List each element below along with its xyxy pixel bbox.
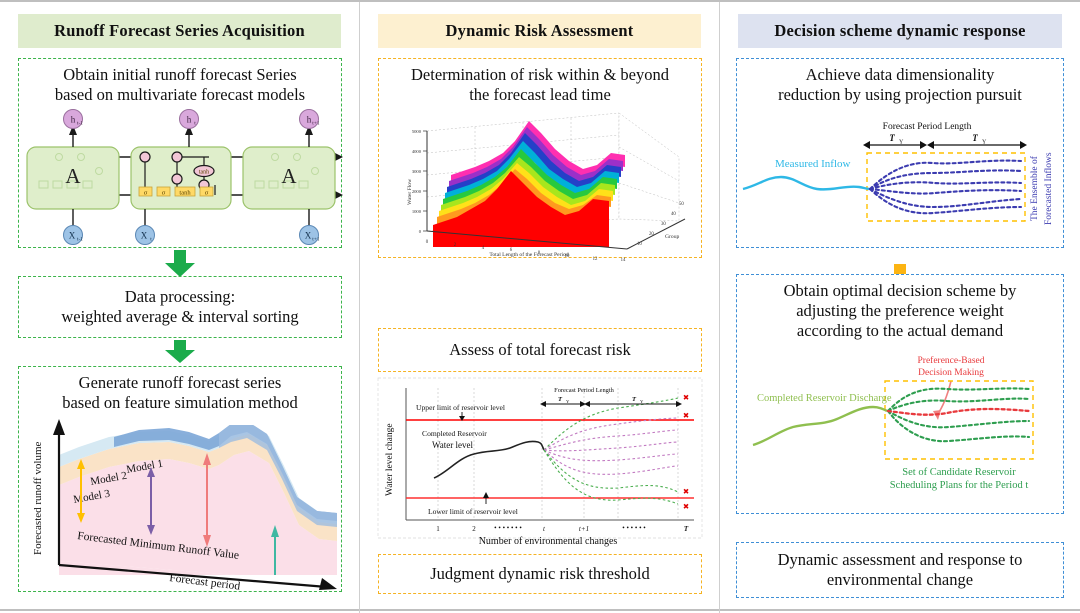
feature-xlabel: Forecast period <box>169 572 241 593</box>
column-decision-response: Decision scheme dynamic response Achieve… <box>720 2 1080 613</box>
box-determination-risk[interactable]: Determination of risk within & beyond th… <box>378 58 702 258</box>
waterfall-zlabel: Group <box>665 234 679 240</box>
risk-xtick-1: 2 <box>472 525 476 533</box>
lower-limit-label: Lower limit of reservoir level <box>428 507 518 516</box>
risk-dots-right: • • • • • • <box>622 524 646 532</box>
box-generate-series[interactable]: Generate runoff forecast series based on… <box>18 366 342 592</box>
figure-projection-pursuit: Forecast Period Length T Y T Y Mea <box>737 115 1063 243</box>
projection-period-label-0: T <box>889 133 895 143</box>
lstm-input-label-2: X <box>305 231 312 241</box>
feature-ylabel: Forecasted runoff volume <box>32 441 44 555</box>
measured-inflow-curve <box>743 177 869 189</box>
arrow-down-green-2 <box>163 340 197 364</box>
lstm-hidden-sub-2: t+1 <box>312 121 320 127</box>
projection-period-label-1: T <box>972 133 978 143</box>
water-level-label: Water level <box>432 440 474 450</box>
completed-reservoir-label: Completed Reservoir <box>422 429 487 438</box>
waterfall-ytick-3: 3000 <box>412 169 422 174</box>
box-data-processing[interactable]: Data processing: weighted average & inte… <box>18 276 342 338</box>
lstm-input-label-0: X <box>69 231 76 241</box>
ensemble-label-line1: The Ensemble of <box>1029 155 1040 221</box>
box-assess-total-risk-text: Assess of total forecast risk <box>449 340 630 360</box>
projection-period-title: Forecast Period Length <box>883 122 972 132</box>
figure-lstm-chain: A A <box>19 109 341 245</box>
waterfall-ytick-5: 5000 <box>412 129 422 134</box>
lstm-inner-op: tanh <box>199 170 209 176</box>
box-dynamic-assessment-text: Dynamic assessment and response to envir… <box>778 550 1023 590</box>
preference-label-line1: Preference-Based <box>918 355 985 366</box>
waterfall-ztick-3: 40 <box>671 212 676 217</box>
waterfall-xlabel: Total Length of the Forecast Period <box>489 251 569 258</box>
candidate-label-line1: Set of Candidate Reservoir <box>902 467 1016 478</box>
box-obtain-initial-text: Obtain initial runoff forecast Series ba… <box>19 59 341 105</box>
box-judgment-threshold[interactable]: Judgment dynamic risk threshold <box>378 554 702 594</box>
box-data-processing-text: Data processing: weighted average & inte… <box>61 287 298 327</box>
risk-xlabel: Number of environmental changes <box>479 536 618 547</box>
box-assess-total-risk[interactable]: Assess of total forecast risk <box>378 328 702 372</box>
lstm-hidden-label-1: h <box>187 115 192 125</box>
lstm-input-label-1: X <box>141 231 148 241</box>
lstm-gate-1: σ <box>162 190 166 197</box>
flowchart-root: Runoff Forecast Series Acquisition Obtai… <box>0 0 1080 611</box>
upper-limit-label: Upper limit of reservoir level <box>416 403 505 412</box>
arrow-down-green-1 <box>163 250 197 278</box>
waterfall-ztick-0: 10 <box>637 242 642 247</box>
box-obtain-optimal[interactable]: Obtain optimal decision scheme by adjust… <box>736 274 1064 514</box>
box-obtain-initial[interactable]: Obtain initial runoff forecast Series ba… <box>18 58 342 248</box>
lstm-gate-2: tanh <box>179 190 191 197</box>
waterfall-xtick-0: 0 <box>426 240 429 245</box>
box-achieve-dimensionality[interactable]: Achieve data dimensionality reduction by… <box>736 58 1064 248</box>
waterfall-ytick-0: 0 <box>419 229 422 234</box>
figure-risk-chart: ✖ ✖ ✖ ✖ Upper limit of reservoir level C… <box>378 378 702 550</box>
waterfall-ztick-2: 30 <box>661 222 666 227</box>
figure-waterfall-3d: 0 1000 2000 3000 4000 5000 0 2 4 6 8 10 <box>379 109 701 257</box>
measured-inflow-label: Measured Inflow <box>775 158 851 170</box>
lstm-hidden-label-0: h <box>71 115 76 125</box>
waterfall-xtick-7: 14 <box>621 258 626 263</box>
box-judgment-threshold-text: Judgment dynamic risk threshold <box>430 564 650 584</box>
projection-period-sub-0: Y <box>899 140 904 146</box>
waterfall-xtick-6: 12 <box>593 257 598 262</box>
waterfall-ylabel: Water Flow <box>407 178 413 205</box>
box-generate-series-text: Generate runoff forecast series based on… <box>19 367 341 413</box>
lstm-hidden-sub-0: t-1 <box>77 121 83 127</box>
column-runoff-forecast: Runoff Forecast Series Acquisition Obtai… <box>0 2 360 613</box>
column-header-runoff-forecast: Runoff Forecast Series Acquisition <box>18 14 341 48</box>
risk-xtick-3: t+1 <box>579 525 589 533</box>
lstm-gate-0: σ <box>144 190 148 197</box>
waterfall-ytick-2: 2000 <box>412 189 422 194</box>
waterfall-ztick-1: 20 <box>649 232 654 237</box>
risk-marker-2: ✖ <box>683 487 690 496</box>
figure-feature-simulation: Forecasted runoff volume Forecast period… <box>19 415 341 591</box>
lstm-gate-3: σ <box>205 190 209 197</box>
risk-dots-left: • • • • • • • <box>494 524 522 532</box>
waterfall-ztick-4: 50 <box>679 202 684 207</box>
risk-ylabel: Water level change <box>385 423 395 496</box>
column-dynamic-risk: Dynamic Risk Assessment Determination of… <box>360 2 720 613</box>
box-dynamic-assessment[interactable]: Dynamic assessment and response to envir… <box>736 542 1064 598</box>
risk-marker-1: ✖ <box>683 411 690 420</box>
risk-xtick-0: 1 <box>436 525 440 533</box>
box-achieve-dimensionality-text: Achieve data dimensionality reduction by… <box>737 59 1063 105</box>
discharge-label: Completed Reservoir Discharge <box>757 393 892 404</box>
lstm-cell-label-right: A <box>281 164 297 188</box>
column-header-decision-response: Decision scheme dynamic response <box>738 14 1062 48</box>
waterfall-ytick-4: 4000 <box>412 149 422 154</box>
box-determination-risk-text: Determination of risk within & beyond th… <box>379 59 701 105</box>
risk-marker-0: ✖ <box>683 393 690 402</box>
completed-discharge-curve <box>753 407 887 445</box>
risk-marker-3: ✖ <box>683 502 690 511</box>
column-header-dynamic-risk: Dynamic Risk Assessment <box>378 14 701 48</box>
forecast-period-title: Forecast Period Length <box>554 387 614 394</box>
lstm-cell-label-left: A <box>65 164 81 188</box>
projection-period-sub-1: Y <box>982 140 987 146</box>
preferred-plan-curve <box>888 409 1029 415</box>
risk-xtick-4: T <box>684 525 689 533</box>
waterfall-ytick-1: 1000 <box>412 209 422 214</box>
figure-decision-scheme: Preference-Based Decision Making Complet… <box>737 349 1063 509</box>
box-obtain-optimal-text: Obtain optimal decision scheme by adjust… <box>737 275 1063 341</box>
lstm-input-sub-0: t-1 <box>77 237 83 243</box>
preference-label-line2: Decision Making <box>918 368 984 378</box>
lstm-hidden-label-2: h <box>307 115 312 125</box>
candidate-label-line2: Scheduling Plans for the Period t <box>890 480 1029 491</box>
lstm-input-sub-2: t+1 <box>312 237 320 243</box>
ensemble-label-line2: Forecasted Inflows <box>1043 152 1054 225</box>
